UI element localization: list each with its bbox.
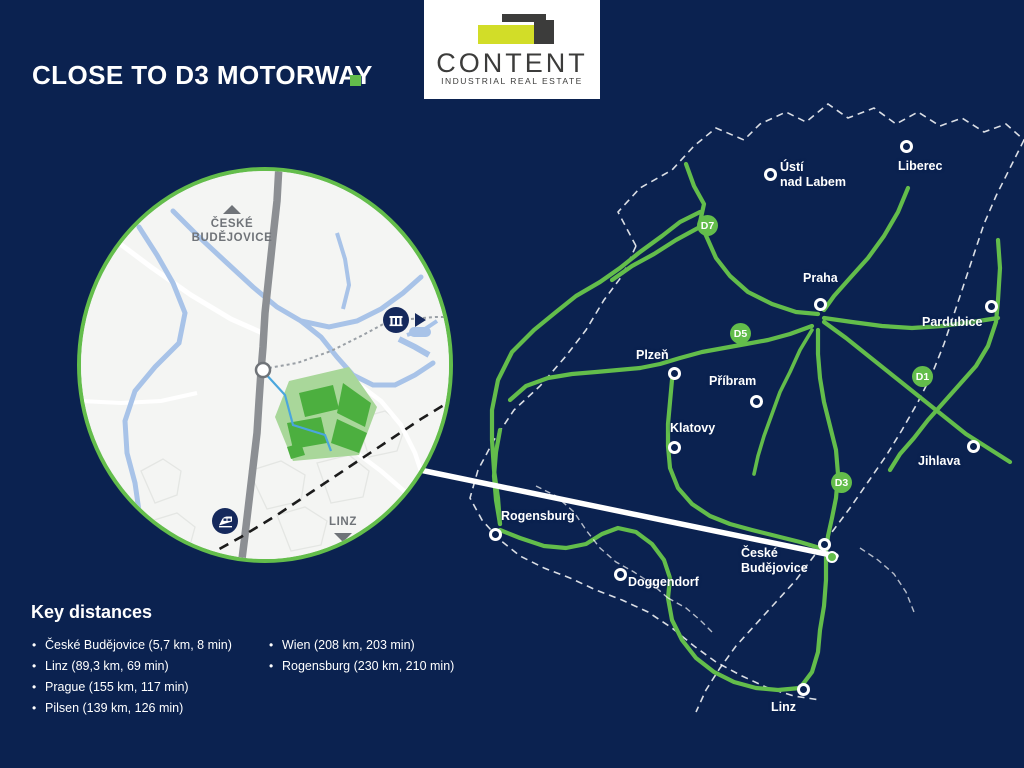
key-distances-heading: Key distances: [31, 602, 152, 623]
city-marker-praha[interactable]: [814, 298, 827, 311]
content-logo: CONTENT INDUSTRIAL REAL ESTATE: [424, 0, 600, 99]
motorway-badge-d3[interactable]: D3: [831, 472, 852, 493]
inset-north-label: ČESKÉ BUDĚJOVICE: [172, 217, 292, 245]
motorway-badge-label: D5: [734, 328, 747, 340]
inset-circle-frame: ČESKÉ BUDĚJOVICE LINZ: [77, 167, 453, 563]
city-marker-plzen[interactable]: [668, 367, 681, 380]
motorway-badge-label: D7: [701, 220, 714, 232]
city-label-usti-nad-labem: Ústí nad Labem: [780, 160, 846, 190]
key-distances-column-1: České Budějovice (5,7 km, 8 min) Linz (8…: [31, 635, 232, 719]
city-label-line1: České: [741, 546, 778, 560]
key-distance-item: Pilsen (139 km, 126 min): [31, 698, 232, 719]
inset-south-label: LINZ: [313, 515, 373, 529]
city-marker-usti-nad-labem[interactable]: [764, 168, 777, 181]
direction-arrow-south-icon: [334, 533, 352, 542]
site-detail-inset[interactable]: ČESKÉ BUDĚJOVICE LINZ: [77, 167, 457, 567]
city-marker-pardubice[interactable]: [985, 300, 998, 313]
motorway-badge-label: D1: [916, 371, 929, 383]
city-label-line1: Rogensburg: [501, 509, 575, 523]
inset-north-label-line2: BUDĚJOVICE: [192, 232, 273, 244]
city-marker-doggendorf[interactable]: [614, 568, 627, 581]
key-distance-item: České Budějovice (5,7 km, 8 min): [31, 635, 232, 656]
city-label-line1: Doggendorf: [628, 575, 699, 589]
city-marker-linz[interactable]: [797, 683, 810, 696]
key-distance-item: Wien (208 km, 203 min): [268, 635, 454, 656]
key-distance-item: Rogensburg (230 km, 210 min): [268, 656, 454, 677]
motorway-badge-d1[interactable]: D1: [912, 366, 933, 387]
city-label-liberec: Liberec: [898, 159, 942, 174]
key-distance-item: Linz (89,3 km, 69 min): [31, 656, 232, 677]
city-marker-rogensburg[interactable]: [489, 528, 502, 541]
logo-wordmark: CONTENT: [424, 48, 600, 79]
city-label-line2: Budějovice: [741, 561, 808, 575]
title-accent-square: [350, 75, 361, 86]
city-label-pardubice: Pardubice: [922, 315, 982, 330]
city-label-jihlava: Jihlava: [918, 454, 960, 469]
city-marker-ceske-budejovice[interactable]: [818, 538, 831, 551]
inset-north-label-line1: ČESKÉ: [211, 218, 254, 230]
city-label-line1: Příbram: [709, 374, 756, 388]
page-title: CLOSE TO D3 MOTORWAY: [32, 60, 373, 91]
direction-arrow-east-icon: [415, 313, 426, 327]
city-label-plzen: Plzeň: [636, 348, 669, 363]
city-label-rogensburg: Rogensburg: [501, 509, 575, 524]
city-label-line1: Ústí: [780, 160, 804, 174]
city-label-linz: Linz: [771, 700, 796, 715]
motorway-badge-label: D3: [835, 477, 848, 489]
city-label-line1: Klatovy: [670, 421, 715, 435]
motorway-badge-d5[interactable]: D5: [730, 323, 751, 344]
site-marker[interactable]: [826, 551, 838, 563]
key-distance-item: Prague (155 km, 117 min): [31, 677, 232, 698]
city-marker-jihlava[interactable]: [967, 440, 980, 453]
city-label-ceske-budejovice: České Budějovice: [741, 546, 808, 576]
city-label-line1: Praha: [803, 271, 838, 285]
logo-tagline: INDUSTRIAL REAL ESTATE: [424, 76, 600, 86]
train-icon[interactable]: [212, 508, 238, 534]
city-label-line1: Jihlava: [918, 454, 960, 468]
city-label-line1: Liberec: [898, 159, 942, 173]
slide-canvas: CLOSE TO D3 MOTORWAY CONTENT INDUSTRIAL …: [0, 0, 1024, 768]
motorway-icon[interactable]: [383, 307, 409, 333]
city-label-line1: Linz: [771, 700, 796, 714]
key-distances-column-2: Wien (208 km, 203 min) Rogensburg (230 k…: [268, 635, 454, 677]
logo-mark-icon: [476, 12, 558, 52]
city-label-line1: Pardubice: [922, 315, 982, 329]
city-label-praha: Praha: [803, 271, 838, 286]
motorway-badge-d7[interactable]: D7: [697, 215, 718, 236]
inset-south-label-text: LINZ: [329, 516, 357, 528]
city-label-line1: Plzeň: [636, 348, 669, 362]
city-label-doggendorf: Doggendorf: [628, 575, 699, 590]
direction-arrow-north-icon: [223, 205, 241, 214]
city-marker-pribram[interactable]: [750, 395, 763, 408]
city-marker-klatovy[interactable]: [668, 441, 681, 454]
city-label-line2: nad Labem: [780, 175, 846, 189]
city-marker-liberec[interactable]: [900, 140, 913, 153]
city-label-pribram: Příbram: [709, 374, 756, 389]
city-label-klatovy: Klatovy: [670, 421, 715, 436]
